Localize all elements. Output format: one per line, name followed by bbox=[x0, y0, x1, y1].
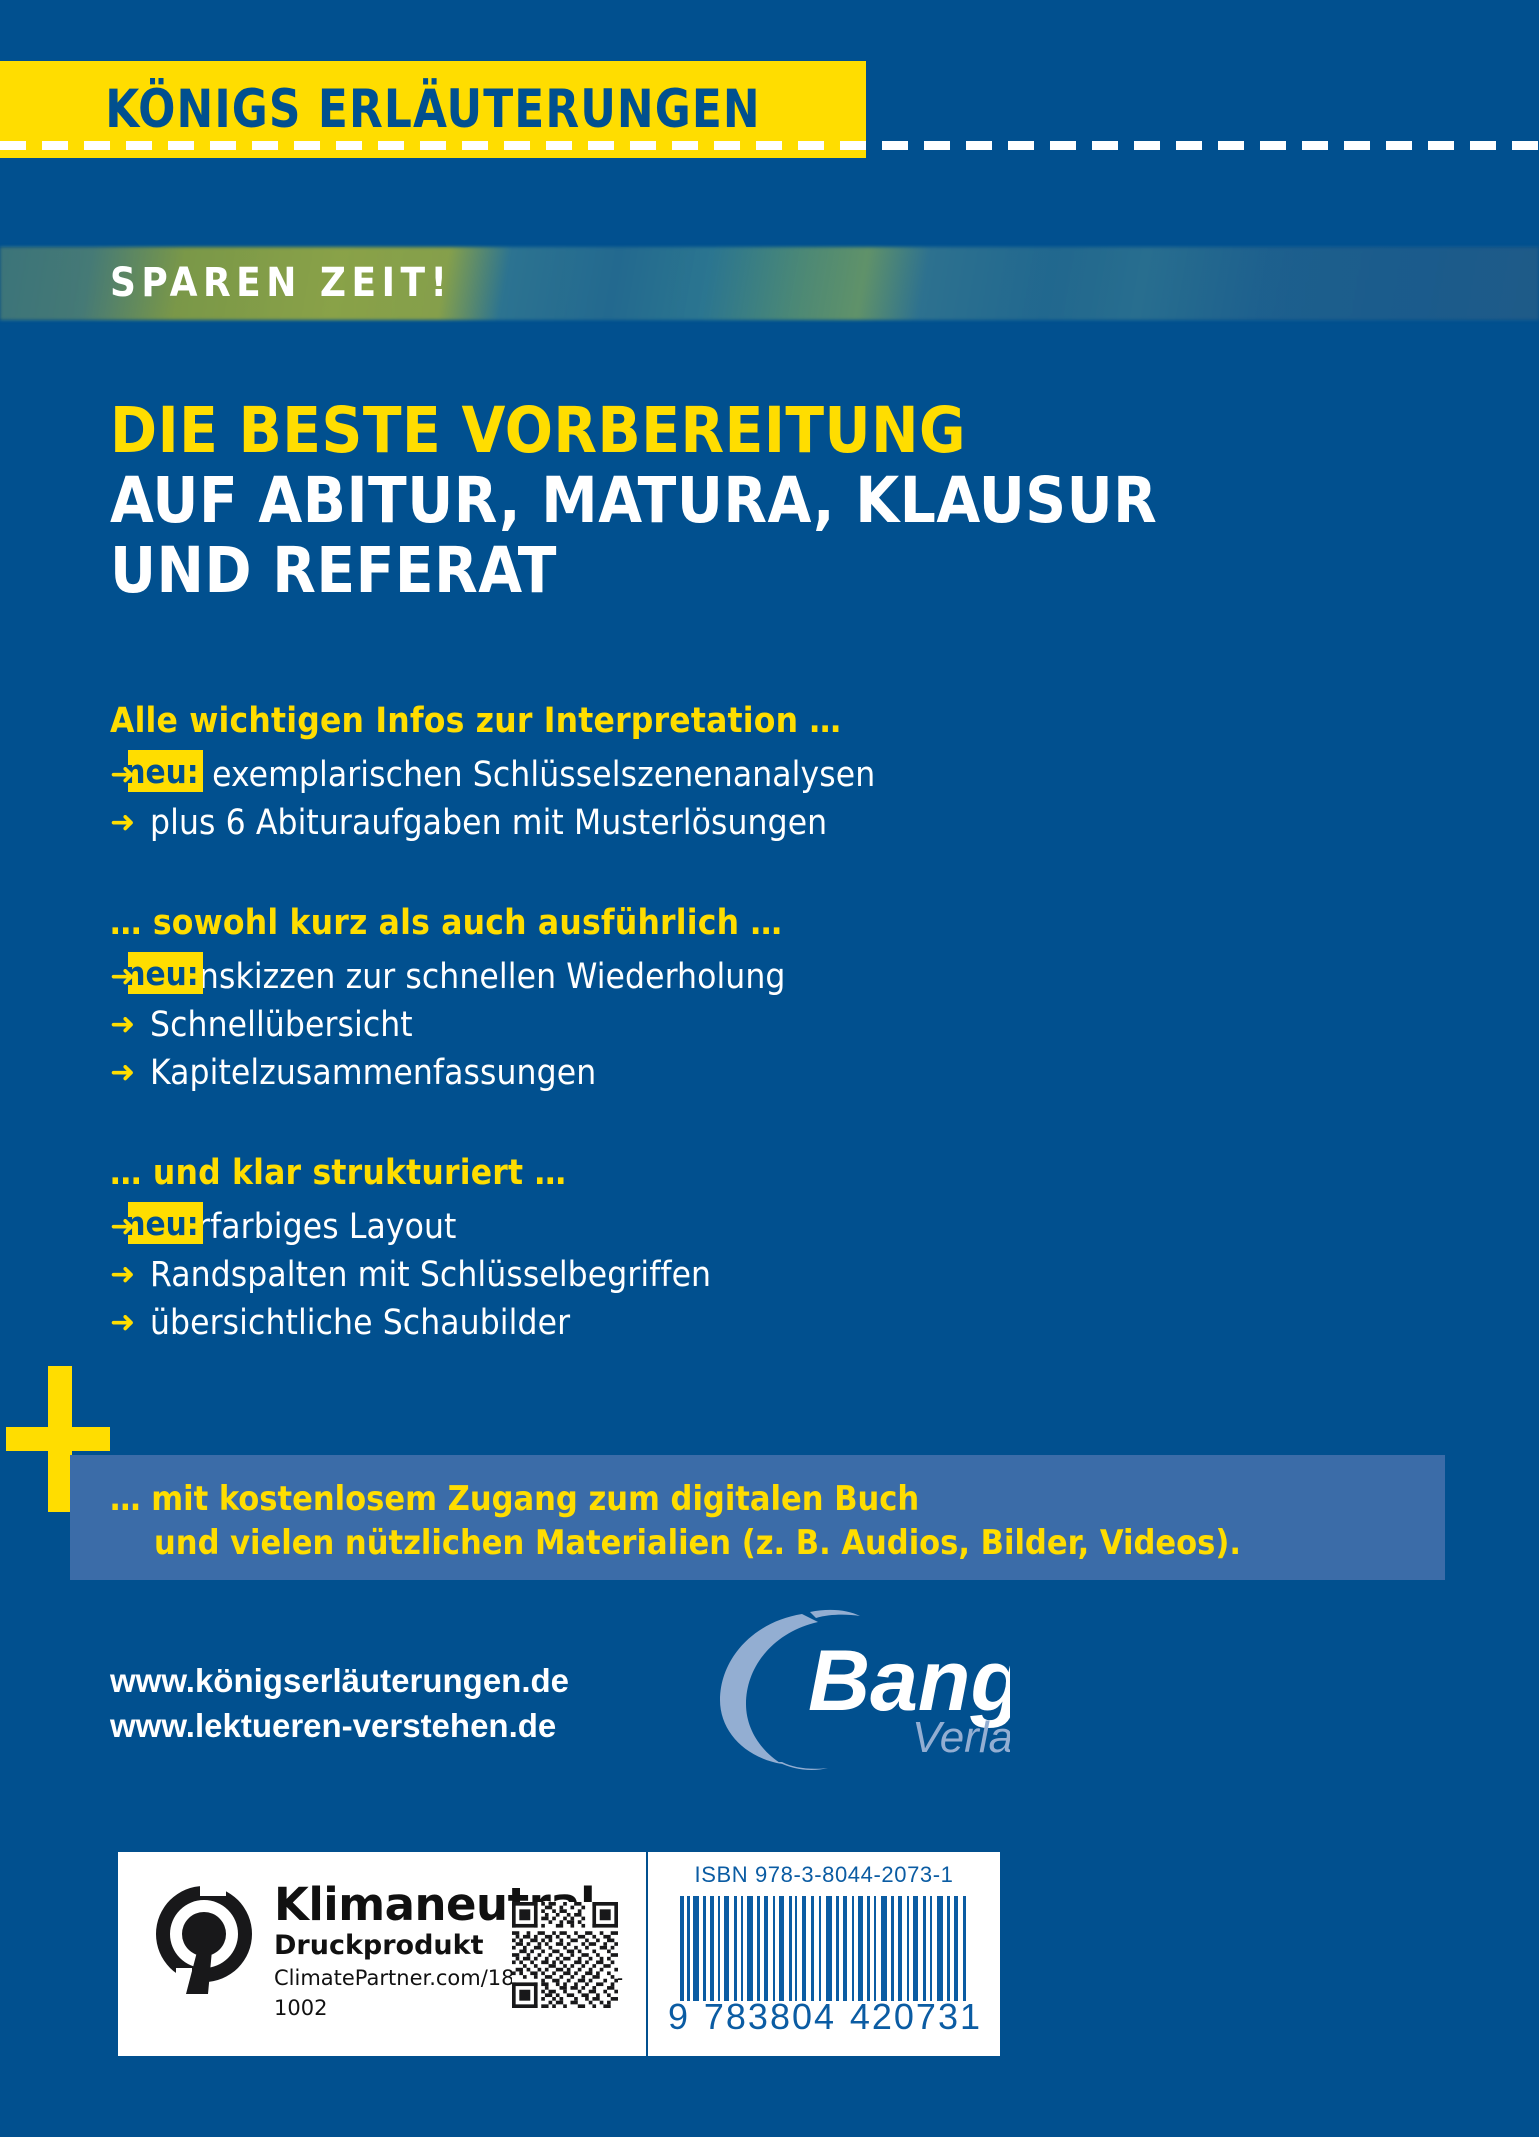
feature-item-label: Schnellübersicht bbox=[150, 1004, 413, 1046]
feature-item: neu:➜mit exemplarischen Schlüsselszenena… bbox=[110, 754, 1539, 802]
ean-digits: 9 783804 420731 bbox=[662, 1996, 988, 2038]
plus-icon-horizontal-bar bbox=[6, 1427, 110, 1451]
arrow-right-icon: ➜ bbox=[110, 808, 150, 838]
ean-group-2: 420731 bbox=[850, 1996, 982, 2038]
feature-item-label: übersichtliche Schaubilder bbox=[150, 1302, 570, 1344]
bange-verlag-logo: Bange Verlag bbox=[690, 1592, 1010, 1772]
headline-line-1: DIE BESTE VORBEREITUNG bbox=[110, 396, 1310, 466]
feature-item: neu:➜vierfarbiges Layout bbox=[110, 1206, 1539, 1254]
digital-access-line-2: und vielen nützlichen Materialien (z. B.… bbox=[110, 1521, 1241, 1565]
arrow-right-icon: ➜ bbox=[110, 1308, 150, 1338]
arrow-right-icon: ➜ bbox=[110, 760, 150, 790]
arrow-right-icon: ➜ bbox=[110, 1058, 150, 1088]
bange-logo-graphic: Bange Verlag bbox=[690, 1592, 1010, 1772]
group-spacer bbox=[0, 850, 1539, 902]
arrow-right-icon: ➜ bbox=[110, 1212, 150, 1242]
feature-items: neu:➜mit exemplarischen Schlüsselszenena… bbox=[0, 754, 1539, 850]
feature-group-title: … und klar strukturiert … bbox=[110, 1152, 1539, 1194]
ean-check-digit: 9 bbox=[668, 1996, 690, 2038]
feature-item-label: Kapitelzusammenfassungen bbox=[150, 1052, 596, 1094]
digital-access-text: … mit kostenlosem Zugang zum digitalen B… bbox=[110, 1477, 1241, 1565]
verlag-wordmark: Verlag bbox=[912, 1713, 1010, 1762]
feature-item: ➜Schnellübersicht bbox=[110, 1004, 1539, 1052]
feature-item: ➜Kapitelzusammenfassungen bbox=[110, 1052, 1539, 1100]
feature-group-title: Alle wichtigen Infos zur Interpretation … bbox=[110, 700, 1539, 742]
main-headline: DIE BESTE VORBEREITUNG AUF ABITUR, MATUR… bbox=[110, 396, 1310, 606]
climate-partner-icon bbox=[150, 1880, 258, 2000]
feature-item: ➜Randspalten mit Schlüsselbegriffen bbox=[110, 1254, 1539, 1302]
climate-neutral-badge: Klimaneutral Druckprodukt ClimatePartner… bbox=[118, 1852, 646, 2056]
arrow-right-icon: ➜ bbox=[110, 1010, 150, 1040]
dashed-divider bbox=[0, 141, 1539, 150]
book-back-cover: KÖNIGS ERLÄUTERUNGEN SPAREN ZEIT! DIE BE… bbox=[0, 0, 1539, 2137]
feature-item-label: mit exemplarischen Schlüsselszenenanalys… bbox=[150, 754, 875, 796]
feature-item-label: Randspalten mit Schlüsselbegriffen bbox=[150, 1254, 711, 1296]
arrow-right-icon: ➜ bbox=[110, 1260, 150, 1290]
headline-line-2: AUF ABITUR, MATURA, KLAUSUR bbox=[110, 466, 1310, 536]
ean-group-1: 783804 bbox=[704, 1996, 836, 2038]
feature-items: neu:➜Lernskizzen zur schnellen Wiederhol… bbox=[0, 956, 1539, 1100]
isbn-label: ISBN 978-3-8044-2073-1 bbox=[648, 1862, 1000, 1888]
feature-item-label: Lernskizzen zur schnellen Wiederholung bbox=[150, 956, 786, 998]
feature-item-label: plus 6 Abituraufgaben mit Musterlösungen bbox=[150, 802, 827, 844]
digital-access-panel: … mit kostenlosem Zugang zum digitalen B… bbox=[70, 1455, 1445, 1580]
isbn-barcode-panel: ISBN 978-3-8044-2073-1 bbox=[648, 1852, 1000, 2056]
feature-group-title: … sowohl kurz als auch ausführlich … bbox=[110, 902, 1539, 944]
ean13-barcode bbox=[674, 1896, 974, 2001]
feature-group: … sowohl kurz als auch ausführlich …neu:… bbox=[0, 902, 1539, 1100]
feature-group: Alle wichtigen Infos zur Interpretation … bbox=[0, 700, 1539, 850]
digital-access-line-1: … mit kostenlosem Zugang zum digitalen B… bbox=[110, 1479, 919, 1519]
group-spacer bbox=[0, 1100, 1539, 1152]
url-lektueren-verstehen[interactable]: www.lektueren-verstehen.de bbox=[110, 1703, 569, 1748]
feature-item: ➜übersichtliche Schaubilder bbox=[110, 1302, 1539, 1350]
tagline-sparen-zeit: SPAREN ZEIT! bbox=[110, 250, 452, 316]
feature-item: neu:➜Lernskizzen zur schnellen Wiederhol… bbox=[110, 956, 1539, 1004]
arrow-right-icon: ➜ bbox=[110, 962, 150, 992]
feature-group: … und klar strukturiert …neu:➜vierfarbig… bbox=[0, 1152, 1539, 1350]
website-urls: www.königserläuterungen.de www.lektueren… bbox=[110, 1658, 569, 1748]
url-koenigserlaeuterungen[interactable]: www.königserläuterungen.de bbox=[110, 1658, 569, 1703]
feature-list: Alle wichtigen Infos zur Interpretation … bbox=[0, 700, 1539, 1350]
feature-items: neu:➜vierfarbiges Layout➜Randspalten mit… bbox=[0, 1206, 1539, 1350]
headline-line-3: UND REFERAT bbox=[110, 536, 1310, 606]
qr-code[interactable] bbox=[512, 1902, 618, 2008]
brush-circle-icon bbox=[720, 1614, 818, 1764]
feature-item: ➜plus 6 Abituraufgaben mit Musterlösunge… bbox=[110, 802, 1539, 850]
